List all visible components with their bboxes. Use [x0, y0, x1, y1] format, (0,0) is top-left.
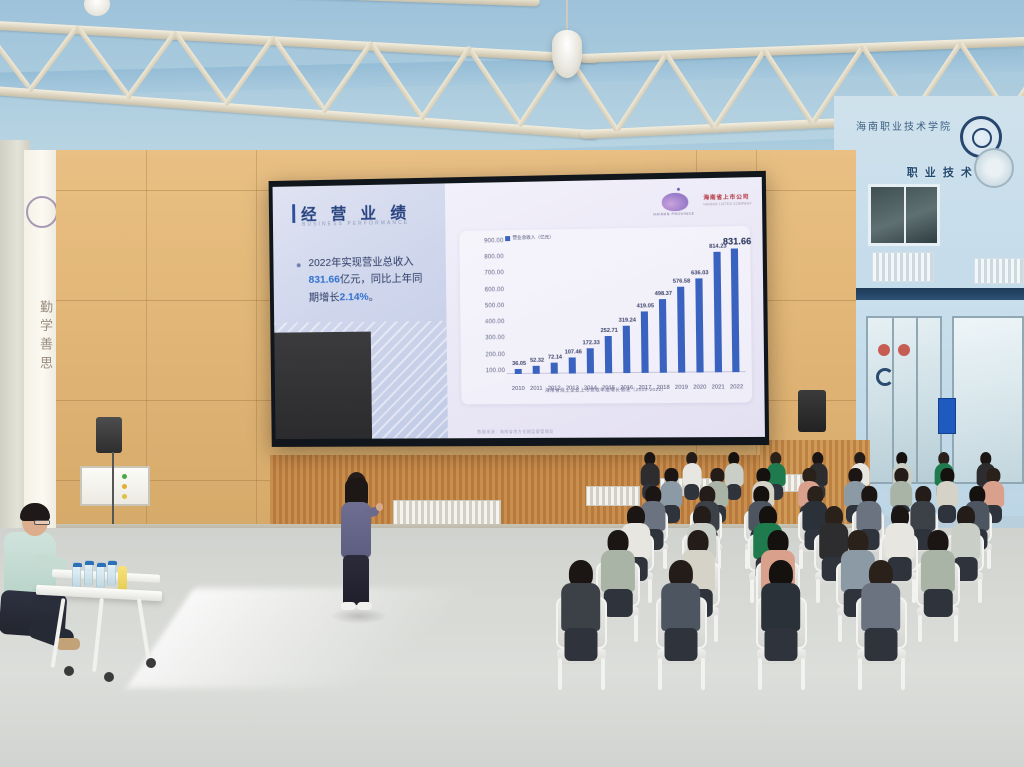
bar-group: 831.662022: [726, 238, 746, 372]
bar-group: 172.332014: [580, 241, 600, 374]
chair-leg: [648, 579, 652, 602]
truss-web-member: [664, 52, 717, 130]
water-bottle-icon-3: [96, 562, 105, 588]
y-axis-tick: 600.00: [462, 287, 504, 294]
chair-leg: [978, 579, 982, 602]
lecture-hall-photo: 职 业 技 术 学 院 海南职业技术学院 勤 学 善 思: [0, 0, 1024, 767]
floor-light-reflection: [126, 588, 523, 688]
audience-torso: [661, 583, 701, 631]
bar-group: 319.242016: [616, 240, 636, 373]
bar-value-label: 52.32: [530, 358, 544, 364]
bar[interactable]: [568, 358, 575, 374]
bar-group: 498.372018: [652, 239, 672, 372]
truss-web-member: [125, 29, 178, 99]
left-wall-emblem-icon: [26, 196, 58, 228]
slide-title-accent-bar: [292, 204, 295, 223]
bar-chart: 营业总收入（亿元） 100.00200.00300.00400.00500.00…: [460, 226, 753, 404]
truss-web-member: [27, 24, 80, 93]
staff-hair: [20, 503, 50, 521]
y-axis-tick: 900.00: [462, 238, 504, 245]
chair-leg: [816, 579, 820, 602]
table-caster-icon: [64, 666, 74, 676]
presenter-shoe-right: [357, 602, 372, 610]
audience-torso: [857, 501, 882, 532]
door-logo-icon: [876, 368, 894, 386]
legend-swatch-icon: [505, 236, 510, 241]
truss-web-member: [615, 54, 668, 132]
chair-leg: [954, 615, 958, 642]
chart-legend: 营业总收入（亿元）: [505, 234, 553, 241]
audience-torso: [561, 583, 601, 631]
secondary-logo-text: 海南省上市公司: [703, 194, 749, 201]
water-bottle-icon: [72, 562, 81, 588]
chair-leg: [658, 658, 662, 689]
facade-sign-text-far: 海南职业技术学院: [856, 118, 952, 133]
chair-leg: [750, 579, 754, 602]
wall-speaker-icon-2: [798, 390, 826, 432]
truss-web-member: [370, 43, 423, 117]
audience-legs: [764, 628, 797, 661]
blue-wall-sign: [938, 398, 956, 434]
presenter-hand: [376, 503, 383, 511]
bar[interactable]: [659, 299, 667, 373]
truss-web-member: [419, 46, 472, 121]
bar-value-label: 36.05: [512, 361, 526, 367]
chart-card: 营业总收入（亿元） 100.00200.00300.00400.00500.00…: [460, 226, 753, 404]
audience-legs: [864, 628, 897, 661]
bar[interactable]: [515, 369, 522, 374]
chair-leg: [858, 658, 862, 689]
y-axis-tick: 200.00: [463, 352, 505, 358]
chair-leg: [758, 658, 762, 689]
secondary-logo-sub: HAINAN LISTED COMPANY: [703, 202, 751, 208]
chair-leg: [601, 658, 605, 689]
audience-legs: [604, 589, 633, 618]
wall-vent-icon-3: [586, 486, 640, 506]
bar-value-label: 636.03: [691, 270, 709, 276]
bar-value-label: 576.58: [673, 279, 691, 285]
audience-torso: [885, 523, 915, 559]
y-axis-tick: 500.00: [463, 303, 505, 310]
chair-leg: [918, 615, 922, 642]
truss-web-member: [321, 40, 374, 114]
truss-web-member: [713, 50, 766, 128]
staff-shoe: [56, 638, 80, 650]
bar-value-label: 107.46: [565, 350, 582, 356]
bar[interactable]: [640, 311, 648, 373]
audience-torso: [641, 463, 660, 486]
wall-vent-icon: [393, 500, 501, 526]
chart-plot-area: 36.05201052.32201172.142012107.462013172…: [508, 238, 746, 374]
audience-member: [920, 530, 956, 616]
bar[interactable]: [713, 251, 722, 372]
bullet-value-revenue: 831.66: [309, 274, 340, 286]
logo-accent-dot: [677, 188, 680, 191]
truss-chord: [0, 0, 540, 7]
table-caster-icon-2: [146, 658, 156, 668]
wall-speaker-icon: [96, 417, 122, 453]
school-emblem-inner: [972, 128, 992, 148]
audience-torso: [891, 481, 913, 507]
bar-group: 814.232021: [707, 239, 727, 373]
province-logo-text: HAINAN PROVINCE: [653, 212, 694, 217]
audience-legs: [664, 628, 697, 661]
chair-leg: [714, 615, 718, 642]
truss-web-member: [223, 35, 276, 107]
pendant-lamp-icon: [552, 30, 582, 78]
bullet-point-icon: [297, 263, 301, 267]
wall-fan-icon: [974, 148, 1014, 188]
audience-torso: [937, 481, 959, 507]
chart-caption: 海南省规上企业上市营收年度增长情况（2010-2022）: [462, 386, 752, 394]
facade-radiator-icon-2: [974, 258, 1024, 284]
facade-window: [868, 184, 940, 246]
audience-member: [660, 560, 702, 659]
presenter: [334, 472, 378, 618]
audience-member: [760, 560, 802, 659]
bar-group: 36.052010: [508, 242, 528, 374]
truss-web-member: [762, 48, 815, 125]
bar-group: 72.142012: [543, 241, 563, 374]
audience-member: [560, 560, 602, 659]
slide-dark-block: [274, 332, 372, 439]
bar-group: 576.582019: [671, 239, 691, 373]
bar[interactable]: [731, 248, 740, 372]
legend-label: 营业总收入（亿元）: [512, 234, 553, 240]
truss-web-member: [468, 49, 521, 125]
audience-torso: [761, 583, 801, 631]
left-wall-vertical-text: 勤 学 善 思: [29, 300, 55, 370]
bar[interactable]: [604, 336, 612, 373]
table-caster-icon-3: [104, 672, 114, 682]
bar-value-label: 72.14: [548, 355, 562, 361]
y-axis-tick: 800.00: [462, 254, 504, 261]
truss-web-member: [272, 38, 325, 111]
bar-value-label: 831.66: [723, 236, 751, 247]
y-axis-tick: 300.00: [463, 335, 505, 341]
red-decal-icon: [878, 344, 890, 356]
presenter-legs: [343, 555, 369, 605]
facade-radiator-icon: [872, 252, 934, 282]
wood-panel-seam-vertical: [256, 150, 257, 540]
y-axis-tick: 700.00: [462, 271, 504, 278]
audience-member: [860, 560, 902, 659]
y-axis-tick: 100.00: [463, 368, 505, 374]
slide-bullet-text: 2022年实现营业总收入831.66亿元，同比上年同期增长2.14%。: [308, 253, 430, 306]
audience-torso: [861, 583, 901, 631]
audience-torso: [601, 550, 635, 592]
bar-group: 107.462013: [562, 241, 582, 374]
bar[interactable]: [622, 326, 630, 373]
bar[interactable]: [586, 348, 593, 373]
water-bottle-icon-2: [84, 560, 93, 586]
audience-legs: [924, 589, 953, 618]
bar-group: 252.712015: [598, 240, 618, 373]
staff-glasses-icon: [34, 520, 50, 525]
bar[interactable]: [677, 287, 685, 373]
slide-footer-note: 数据来源：海南省地方金融监督管理局: [477, 429, 553, 435]
bar[interactable]: [695, 278, 703, 372]
bar[interactable]: [532, 366, 539, 374]
audience-legs: [564, 628, 597, 661]
bar-value-label: 419.05: [637, 303, 654, 309]
chair-leg: [634, 615, 638, 642]
chair-leg: [701, 658, 705, 689]
province-logo-icon: [662, 193, 689, 212]
facade-ledge: [850, 288, 1024, 300]
audience-torso: [921, 550, 955, 592]
bar[interactable]: [550, 363, 557, 374]
bar-group: 419.052017: [634, 240, 654, 373]
slide-right-panel: HAINAN PROVINCE 海南省上市公司 HAINAN LISTED CO…: [445, 177, 765, 438]
bar-value-label: 172.33: [583, 340, 600, 346]
bullet-prefix: 2022年实现营业总收入: [308, 256, 413, 270]
audience-torso: [683, 463, 702, 486]
y-axis-tick: 400.00: [463, 319, 505, 325]
water-bottle-icon-4: [107, 560, 116, 586]
presenter-shoe-left: [341, 602, 356, 610]
chair-leg: [558, 658, 562, 689]
presentation-screen[interactable]: 经 营 业 绩 BUSINESS PERFORMANCE 2022年实现营业总收…: [269, 171, 770, 447]
truss-web-member: [174, 32, 227, 103]
chair-leg: [901, 658, 905, 689]
bullet-suffix: 。: [369, 290, 379, 302]
bar-group: 636.032020: [689, 239, 709, 373]
screen-surface: 经 营 业 绩 BUSINESS PERFORMANCE 2022年实现营业总收…: [273, 177, 765, 439]
wall-notice-board: [80, 466, 150, 506]
chair-leg: [987, 549, 991, 569]
chair-leg: [801, 658, 805, 689]
bar-value-label: 498.37: [655, 291, 672, 297]
bar-group: 52.322011: [526, 242, 546, 374]
red-decal-icon-2: [898, 344, 910, 356]
y-axis-ticks: 100.00200.00300.00400.00500.00600.00700.…: [460, 226, 750, 231]
secondary-logo: 海南省上市公司 HAINAN LISTED COMPANY: [703, 193, 751, 207]
bullet-value-growth: 2.14%: [339, 291, 368, 303]
bar-value-label: 319.24: [619, 318, 636, 324]
chair-leg: [838, 615, 842, 642]
bar-value-label: 252.71: [601, 328, 618, 334]
